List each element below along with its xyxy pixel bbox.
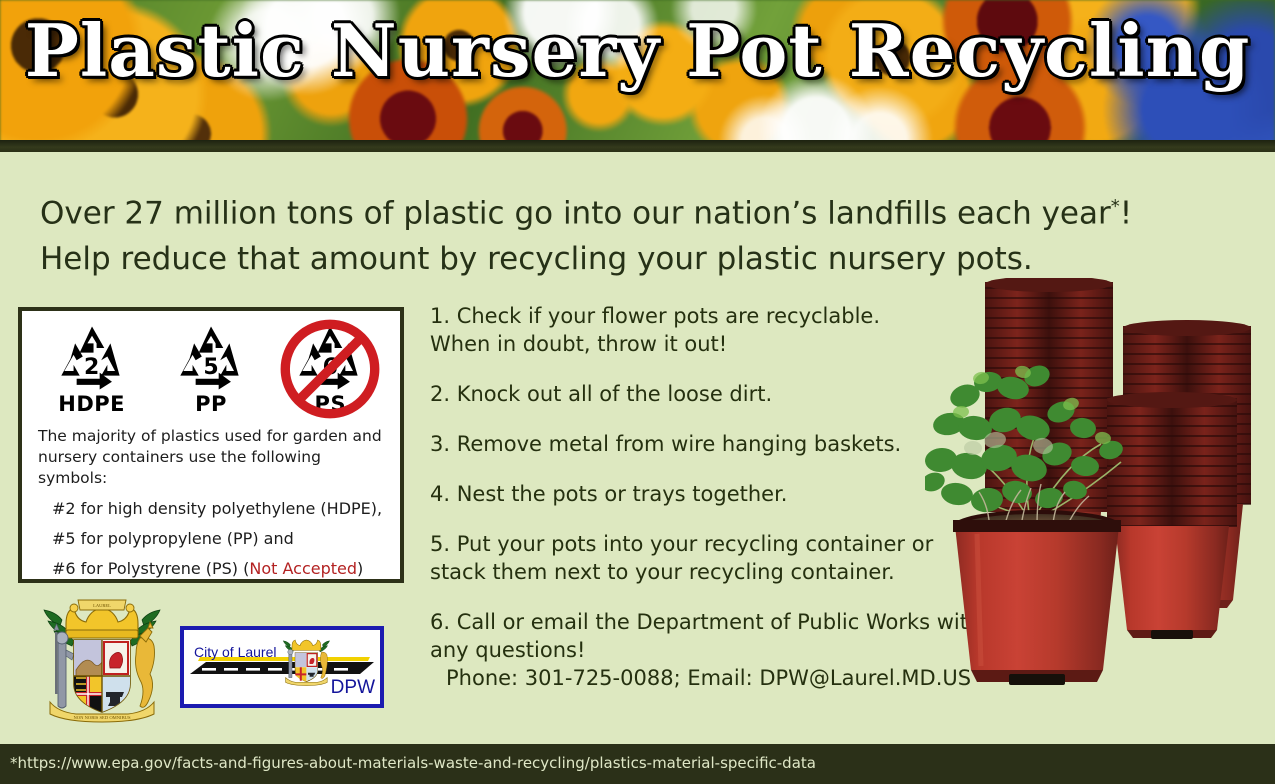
symbol-code: PS — [276, 392, 384, 416]
step-3-line-1: 3. Remove metal from wire hanging basket… — [430, 430, 1000, 458]
not-accepted-badge: Not Accepted — [249, 559, 357, 578]
dpw-logo-label: City of Laurel — [194, 644, 276, 660]
symbol-bullet-ps: #6 for Polystyrene (PS) (Not Accepted) — [38, 558, 384, 579]
symbol-digit: 5 — [157, 355, 265, 380]
symbol-ps: 6 PS — [276, 325, 384, 416]
lead-paragraph: Over 27 million tons of plastic go into … — [40, 184, 1220, 282]
symbol-intro-line-1: The majority of plastics used for garden… — [38, 426, 384, 447]
pot-stack-front-right — [1107, 392, 1237, 639]
step-1-line-2: When in doubt, throw it out! — [430, 330, 1000, 358]
lead-line-1: Over 27 million tons of plastic go into … — [40, 184, 1220, 236]
step-6: 6. Call or email the Department of Publi… — [430, 608, 1000, 692]
dpw-logo-inner: City of Laurel DPW — [184, 630, 380, 704]
step-5-line-1: 5. Put your pots into your recycling con… — [430, 530, 1000, 558]
step-6-line-1: 6. Call or email the Department of Publi… — [430, 608, 1000, 664]
city-of-laurel-coat-of-arms-icon: LAUREL — [36, 598, 168, 724]
step-3: 3. Remove metal from wire hanging basket… — [430, 430, 1000, 458]
symbol-row: 2 HDPE 5 PP — [22, 311, 400, 416]
step-6-contact: Phone: 301-725-0088; Email: DPW@Laurel.M… — [430, 664, 1000, 692]
step-2: 2. Knock out all of the loose dirt. — [430, 380, 1000, 408]
step-4: 4. Nest the pots or trays together. — [430, 480, 1000, 508]
source-url: *https://www.epa.gov/facts-and-figures-a… — [10, 754, 816, 772]
symbol-pp: 5 PP — [157, 325, 265, 416]
lead-line-1-text: Over 27 million tons of plastic go into … — [40, 195, 1111, 231]
header-banner: Plastic Nursery Pot Recycling — [0, 0, 1275, 152]
symbol-code: PP — [157, 392, 265, 416]
stacked-red-nursery-pots-with-plant-photo — [925, 278, 1275, 748]
symbol-bullet-pp: #5 for polypropylene (PP) and — [38, 528, 384, 549]
svg-text:NON NOBIS SED OMNIBUS: NON NOBIS SED OMNIBUS — [73, 715, 130, 720]
step-4-line-1: 4. Nest the pots or trays together. — [430, 480, 1000, 508]
step-5: 5. Put your pots into your recycling con… — [430, 530, 1000, 586]
symbol-digit: 2 — [38, 355, 146, 380]
lead-line-2: Help reduce that amount by recycling you… — [40, 236, 1220, 282]
symbol-digit: 6 — [276, 355, 384, 380]
svg-text:LAUREL: LAUREL — [93, 603, 111, 608]
page-title: Plastic Nursery Pot Recycling — [0, 8, 1275, 93]
symbol-intro-line-2: nursery containers use the following sym… — [38, 447, 384, 489]
step-5-line-2: stack them next to your recycling contai… — [430, 558, 1000, 586]
dpw-logo: City of Laurel DPW — [180, 626, 384, 708]
footnote-marker: * — [1111, 196, 1120, 217]
footer-bar: *https://www.epa.gov/facts-and-figures-a… — [0, 744, 1275, 784]
symbol-box-text: The majority of plastics used for garden… — [22, 416, 400, 579]
steps-list: 1. Check if your flower pots are recycla… — [430, 302, 1000, 692]
step-1-line-1: 1. Check if your flower pots are recycla… — [430, 302, 1000, 330]
symbol-bullet-hdpe: #2 for high density polyethylene (HDPE), — [38, 498, 384, 519]
symbol-bullet-ps-suffix: ) — [357, 559, 363, 578]
header-divider — [0, 140, 1275, 152]
plastic-symbols-box: 2 HDPE 5 PP — [18, 307, 404, 583]
step-1: 1. Check if your flower pots are recycla… — [430, 302, 1000, 358]
symbol-code: HDPE — [38, 392, 146, 416]
poster: Plastic Nursery Pot Recycling Over 27 mi… — [0, 0, 1275, 784]
dpw-logo-abbr: DPW — [331, 677, 375, 699]
step-2-line-1: 2. Knock out all of the loose dirt. — [430, 380, 1000, 408]
symbol-bullet-ps-prefix: #6 for Polystyrene (PS) ( — [52, 559, 249, 578]
symbol-hdpe: 2 HDPE — [38, 325, 146, 416]
lead-line-1-end: ! — [1120, 195, 1132, 231]
